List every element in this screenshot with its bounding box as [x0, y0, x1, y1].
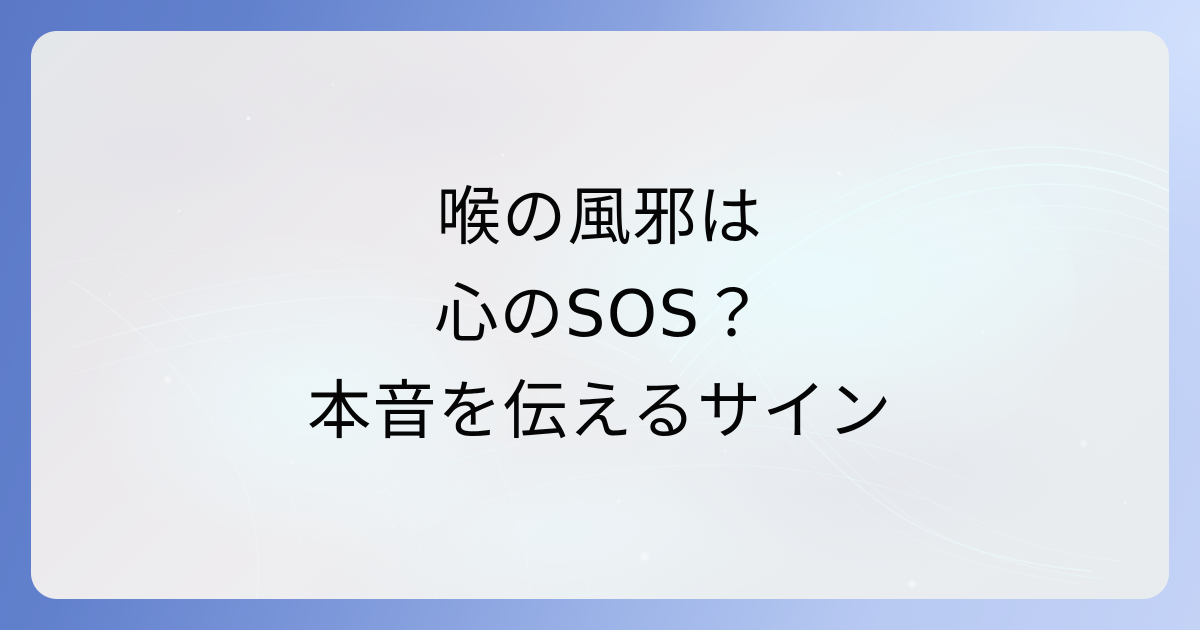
- title-block: 喉の風邪は 心のSOS？ 本音を伝えるサイン: [31, 31, 1169, 599]
- title-line-2: 心のSOS？: [434, 267, 765, 364]
- eyecatch-banner: 喉の風邪は 心のSOS？ 本音を伝えるサイン: [0, 0, 1200, 630]
- content-card: 喉の風邪は 心のSOS？ 本音を伝えるサイン: [31, 31, 1169, 599]
- title-line-1: 喉の風邪は: [437, 170, 763, 267]
- title-line-3: 本音を伝えるサイン: [307, 364, 893, 461]
